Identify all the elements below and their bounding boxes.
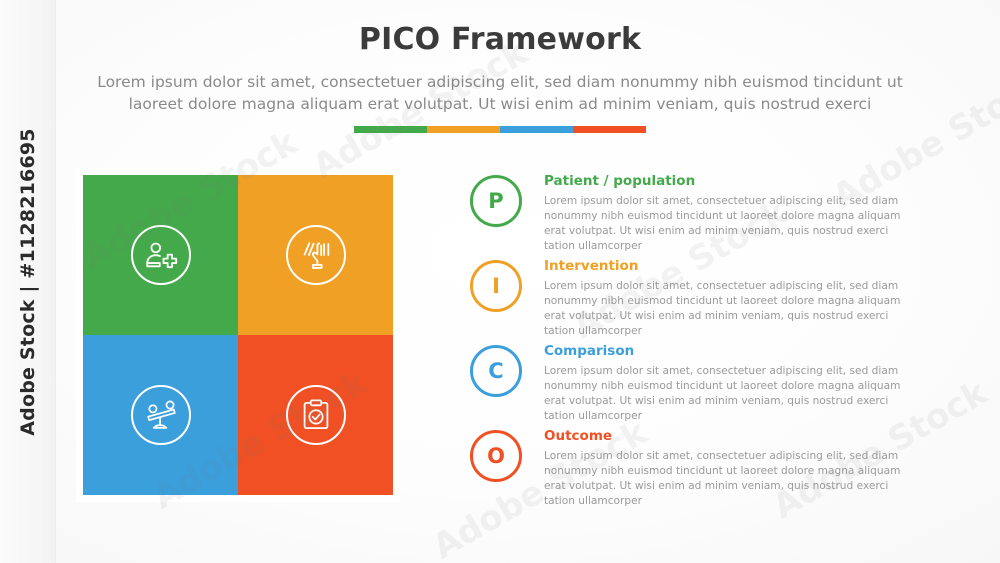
segment-blue xyxy=(500,126,573,133)
item-title: Patient / population xyxy=(544,173,919,189)
item-description: Lorem ipsum dolor sit amet, consectetuer… xyxy=(544,194,919,254)
list-item[interactable]: O Outcome Lorem ipsum dolor sit amet, co… xyxy=(470,427,940,512)
page-subtitle: Lorem ipsum dolor sit amet, consectetuer… xyxy=(70,71,930,116)
segment-red xyxy=(573,126,646,133)
cell-outcome[interactable] xyxy=(238,335,393,495)
patient-person-plus-icon xyxy=(131,225,191,285)
seesaw-balance-ab-icon xyxy=(131,385,191,445)
item-title: Comparison xyxy=(544,343,919,359)
item-description: Lorem ipsum dolor sit amet, consectetuer… xyxy=(544,449,919,509)
item-body: Outcome Lorem ipsum dolor sit amet, cons… xyxy=(544,427,919,509)
cell-intervention[interactable] xyxy=(238,175,393,335)
item-body: Intervention Lorem ipsum dolor sit amet,… xyxy=(544,257,919,339)
item-body: Comparison Lorem ipsum dolor sit amet, c… xyxy=(544,342,919,424)
item-description: Lorem ipsum dolor sit amet, consectetuer… xyxy=(544,279,919,339)
stock-id-label: Adobe Stock | #1128216695 xyxy=(17,128,39,435)
header: PICO Framework Lorem ipsum dolor sit ame… xyxy=(0,22,1000,116)
letter-badge-i: I xyxy=(470,260,522,312)
list-item[interactable]: P Patient / population Lorem ipsum dolor… xyxy=(470,172,940,257)
page-title: PICO Framework xyxy=(0,22,1000,57)
quadrant-grid xyxy=(83,175,393,495)
list-item[interactable]: C Comparison Lorem ipsum dolor sit amet,… xyxy=(470,342,940,427)
cell-comparison[interactable] xyxy=(83,335,238,495)
clipboard-check-icon xyxy=(286,385,346,445)
item-description: Lorem ipsum dolor sit amet, consectetuer… xyxy=(544,364,919,424)
list-item[interactable]: I Intervention Lorem ipsum dolor sit ame… xyxy=(470,257,940,342)
letter-badge-p: P xyxy=(470,175,522,227)
item-title: Intervention xyxy=(544,258,919,274)
item-title: Outcome xyxy=(544,428,919,444)
segment-green xyxy=(354,126,427,133)
item-body: Patient / population Lorem ipsum dolor s… xyxy=(544,172,919,254)
quadrant-card xyxy=(76,168,400,502)
hand-intervention-icon xyxy=(286,225,346,285)
letter-badge-c: C xyxy=(470,345,522,397)
segment-orange xyxy=(427,126,500,133)
letter-badge-o: O xyxy=(470,430,522,482)
cell-patient[interactable] xyxy=(83,175,238,335)
infographic-canvas: Adobe Stock Adobe Stock Adobe Stock Adob… xyxy=(0,0,1000,563)
stock-watermark-strip: Adobe Stock | #1128216695 xyxy=(0,0,56,563)
pico-item-list: P Patient / population Lorem ipsum dolor… xyxy=(470,172,940,512)
accent-bar xyxy=(354,126,646,133)
